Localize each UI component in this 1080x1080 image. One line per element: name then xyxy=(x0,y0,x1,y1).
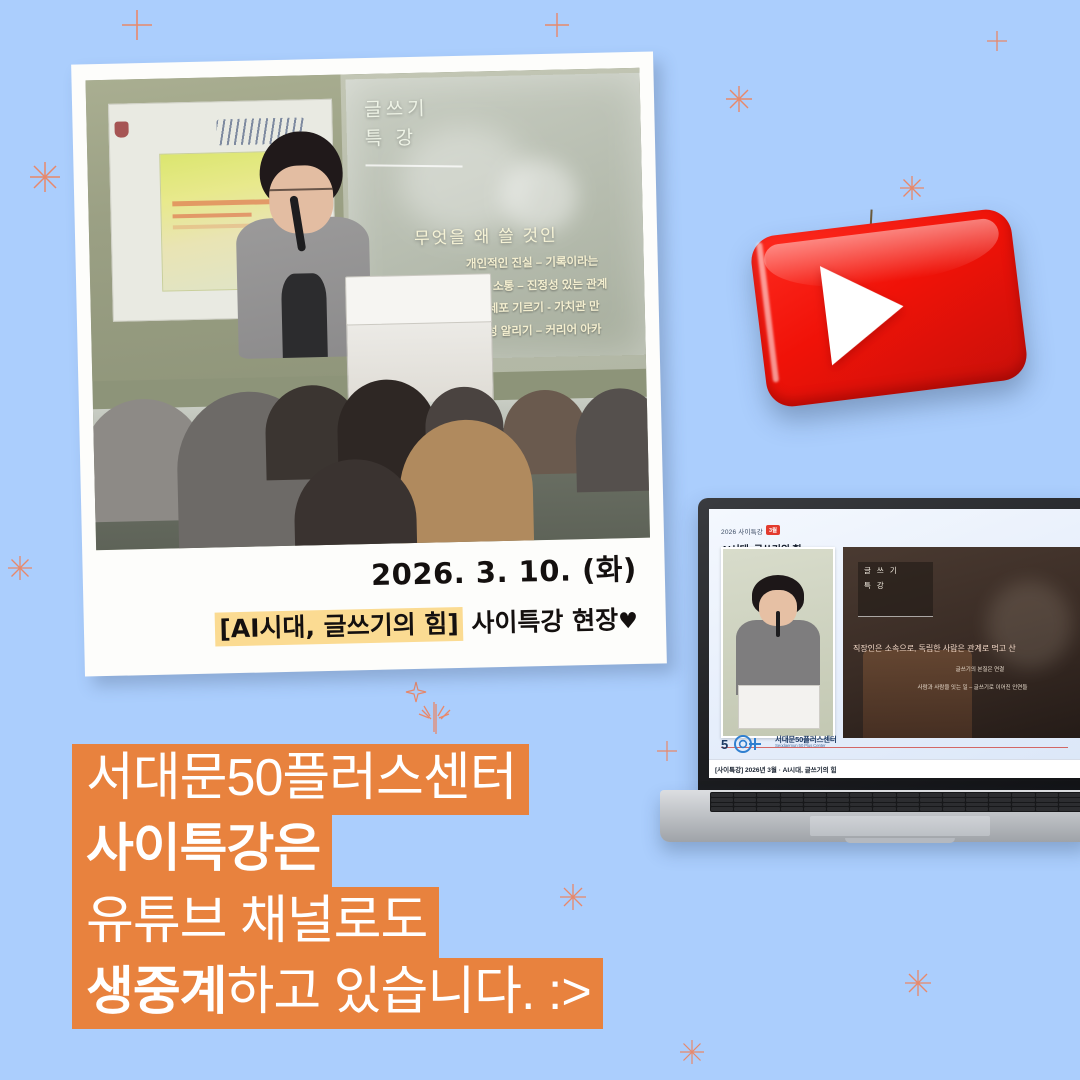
podium-laptop xyxy=(345,273,492,325)
slide-sub1: 글쓰기의 본질은 연결 xyxy=(868,665,1080,673)
lecture-photo: 글쓰기 특 강 무엇을 왜 쓸 것인 개인적인 진실 – 기록이라는 진실한 소… xyxy=(85,68,650,550)
keyboard-row xyxy=(711,798,1080,802)
slide-heading: 무엇을 왜 쓸 것인 xyxy=(414,219,650,249)
caption-date: 2026. 3. 10. (화) xyxy=(96,546,637,600)
laptop-device: 2026 사이특강3월 AI시대, 글쓰기의 힘 xyxy=(660,498,1080,898)
stream-logo-row: 5 서대문50플러스센터 Seodaemun 50 Plus Center xyxy=(721,734,1068,756)
slide-headline: 직장인은 소속으로, 독립한 사람은 관계로 먹고 산 xyxy=(853,643,1080,654)
sparkle-star-icon xyxy=(680,1040,704,1064)
stream-panes: 글 쓰 기 특 강 직장인은 소속으로, 독립한 사람은 관계로 먹고 산 글쓰… xyxy=(721,547,1080,738)
headline-line-4: 생중계하고 있습니다. :> xyxy=(72,958,603,1029)
polaroid-caption: 2026. 3. 10. (화) [AI시대, 글쓰기의 힘] 사이특강 현장♥ xyxy=(96,540,652,659)
headline-line-4-bold: 생중계 xyxy=(86,963,227,1021)
caption-subtitle: [AI시대, 글쓰기의 힘] 사이특강 현장♥ xyxy=(98,600,639,648)
headline-line-4-rest: 하고 있습니다. :> xyxy=(227,963,591,1021)
lecturer-glasses-icon xyxy=(269,188,333,207)
camera-laptop xyxy=(738,685,819,728)
svg-text:5: 5 xyxy=(721,737,728,752)
youtube-button-body xyxy=(748,207,1029,410)
center-logo-icon: 5 xyxy=(721,734,769,754)
slide-title-line1: 글쓰기 xyxy=(364,94,429,125)
sparkle-plus-icon xyxy=(120,8,154,42)
slide-share-pane: 글 쓰 기 특 강 직장인은 소속으로, 독립한 사람은 관계로 먹고 산 글쓰… xyxy=(843,547,1080,738)
laptop-screen[interactable]: 2026 사이특강3월 AI시대, 글쓰기의 힘 xyxy=(709,509,1080,778)
laptop-keyboard[interactable] xyxy=(710,792,1080,812)
slide-sub2: 사람과 사람을 잇는 일 – 글쓰기로 이어진 인연들 xyxy=(853,683,1080,691)
organization-name-en: Seodaemun 50 Plus Center xyxy=(775,743,826,748)
poster-canvas: 글쓰기 특 강 무엇을 왜 쓸 것인 개인적인 진실 – 기록이라는 진실한 소… xyxy=(0,0,1080,1080)
sparkle-plus-icon xyxy=(544,12,570,38)
laptop-lid: 2026 사이특강3월 AI시대, 글쓰기의 힘 xyxy=(698,498,1080,794)
stream-bottom-caption: [사이특강] 2026년 3월 · AI시대, 글쓰기의 힘 xyxy=(709,759,1080,778)
heart-icon: ♥ xyxy=(618,609,638,634)
youtube-play-button[interactable] xyxy=(748,207,1029,410)
sparkle-star-icon xyxy=(900,176,924,200)
slide-board-line2: 특 강 xyxy=(858,577,933,591)
keyboard-row xyxy=(711,807,1080,811)
headline-block: 서대문50플러스센터 사이특강은 유튜브 채널로도 생중계하고 있습니다. :> xyxy=(72,744,603,1029)
speaker-camera-pane xyxy=(721,547,835,738)
stream-kicker: 2026 사이특강 xyxy=(721,526,763,536)
headline-line-1: 서대문50플러스센터 xyxy=(72,744,529,815)
slide-glare xyxy=(987,581,1072,669)
month-badge: 3월 xyxy=(766,525,780,535)
logo-rule xyxy=(721,747,1068,748)
slide-title-line2: 특 강 xyxy=(365,124,430,155)
sparkle-plus-icon xyxy=(986,30,1008,52)
laptop-notch xyxy=(845,838,955,843)
keyboard-row xyxy=(711,803,1080,807)
polaroid-card: 글쓰기 특 강 무엇을 왜 쓸 것인 개인적인 진실 – 기록이라는 진실한 소… xyxy=(71,51,667,676)
lecturer-inner-top xyxy=(281,273,328,358)
stream-kicker-row: 2026 사이특강3월 xyxy=(721,521,1080,539)
bottom-caption-text: [사이특강] 2026년 3월 · AI시대, 글쓰기의 힘 xyxy=(709,760,1080,774)
slide-board-line1: 글 쓰 기 xyxy=(858,562,933,576)
keyboard-row xyxy=(711,793,1080,797)
sparkle-star-icon xyxy=(30,162,60,192)
sparkle-burst-icon xyxy=(416,700,456,740)
headline-line-3: 유튜브 채널로도 xyxy=(72,887,439,958)
wall-badge-icon xyxy=(114,122,128,138)
laptop-trackpad[interactable] xyxy=(810,816,990,836)
sparkle-diamond-icon xyxy=(404,680,428,704)
sparkle-burst-icon xyxy=(416,696,452,736)
sparkle-star-icon xyxy=(726,86,752,112)
sparkle-star-icon xyxy=(8,556,32,580)
slide-title: 글쓰기 특 강 xyxy=(364,94,430,154)
play-triangle-icon xyxy=(820,257,910,366)
sparkle-star-icon xyxy=(905,970,931,996)
camera-microphone-icon xyxy=(776,611,780,637)
slide-board: 글 쓰 기 특 강 xyxy=(858,562,933,616)
stream-content: 2026 사이특강3월 AI시대, 글쓰기의 힘 xyxy=(721,521,1080,752)
slide-chair xyxy=(863,650,973,738)
caption-highlight: [AI시대, 글쓰기의 힘] xyxy=(215,607,463,647)
headline-line-2: 사이특강은 xyxy=(72,815,332,886)
caption-rest: 사이특강 현장 xyxy=(462,605,618,638)
